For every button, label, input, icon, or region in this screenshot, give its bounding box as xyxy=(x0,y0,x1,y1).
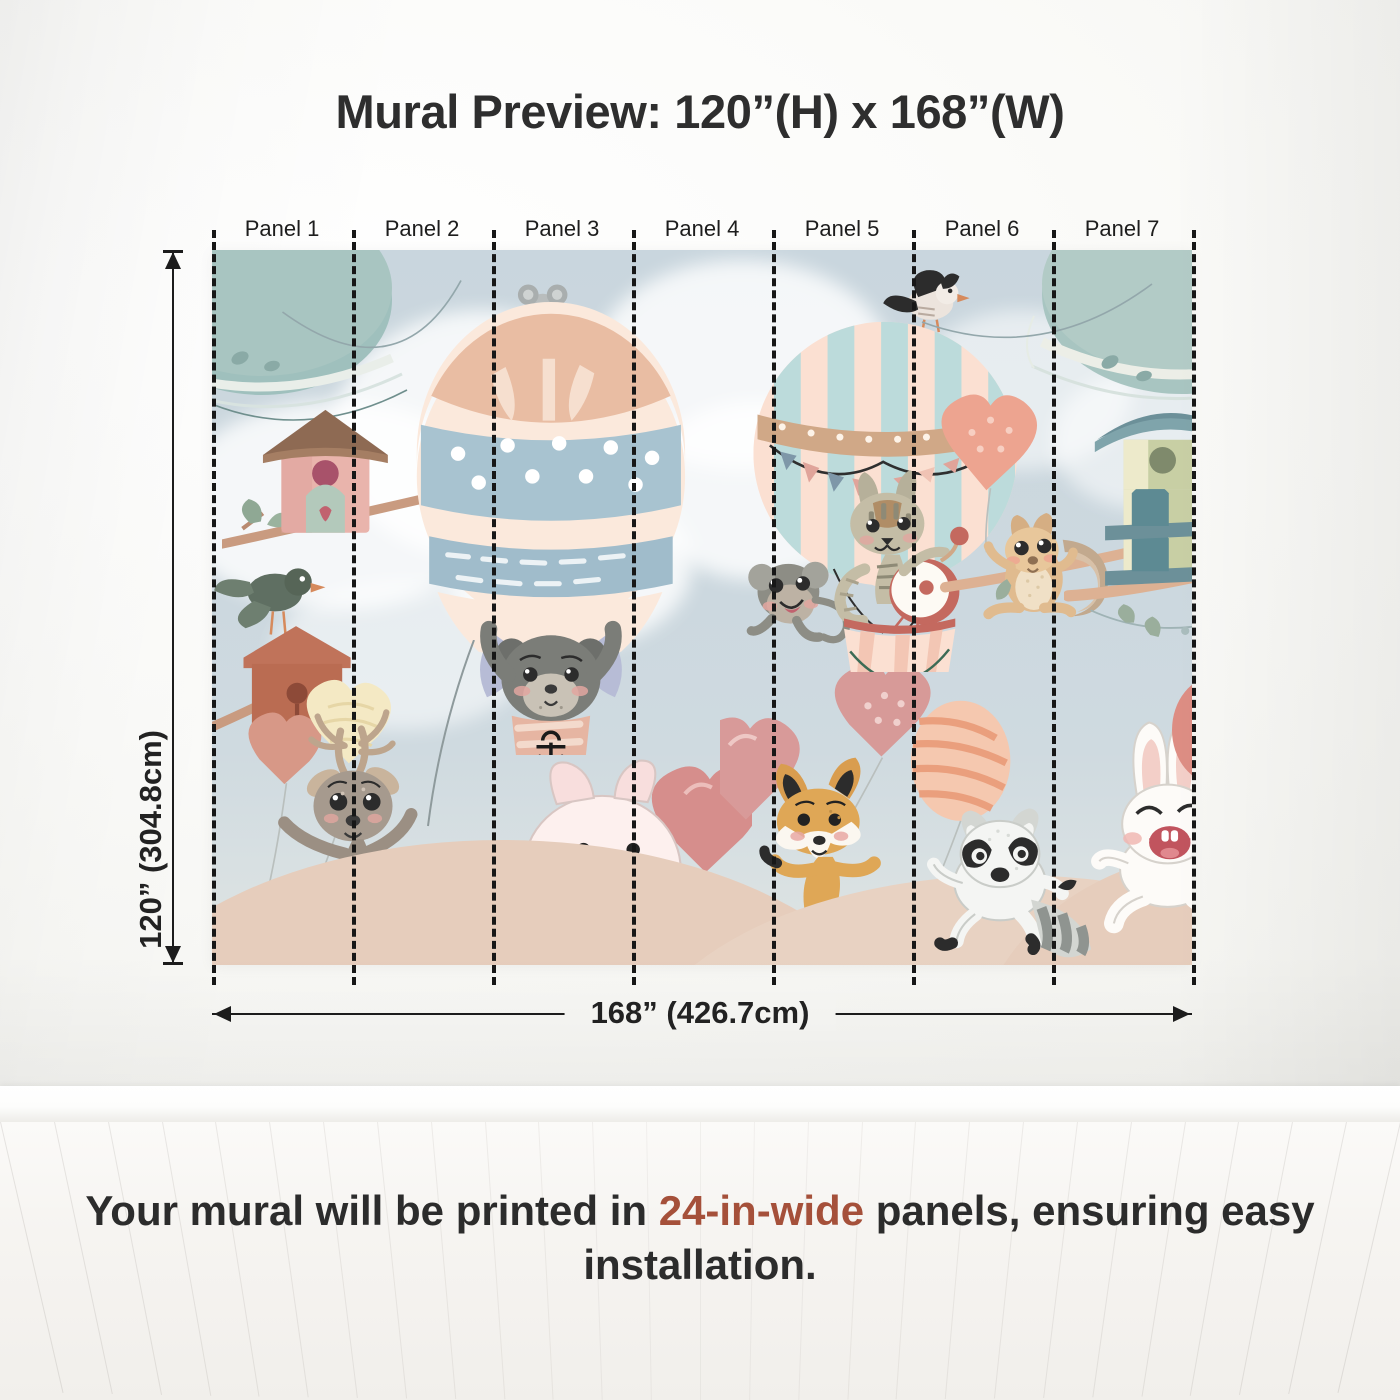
footer-caption: Your mural will be printed in 24-in-wide… xyxy=(0,1184,1400,1292)
height-dimension-label: 120” (304.8cm) xyxy=(133,730,169,949)
mural-preview-container[interactable]: Panel 1 Panel 2 Panel 3 Panel 4 Panel 5 … xyxy=(212,250,1192,965)
height-dimension-line xyxy=(172,250,174,965)
page-title: Mural Preview: 120”(H) x 168”(W) xyxy=(0,84,1400,139)
panel-label-4: Panel 4 xyxy=(632,216,772,242)
panel-label-1: Panel 1 xyxy=(212,216,352,242)
panel-label-2: Panel 2 xyxy=(352,216,492,242)
panel-guide-3 xyxy=(632,230,636,985)
mural-artwork xyxy=(212,250,1192,965)
arrow-left-icon xyxy=(214,1006,231,1022)
room-scene: Panel 1 Panel 2 Panel 3 Panel 4 Panel 5 … xyxy=(0,0,1400,1400)
balloon-string-right-icon xyxy=(902,270,1162,470)
panel-guide-6 xyxy=(1052,230,1056,985)
caption-pre: Your mural will be printed in xyxy=(85,1187,658,1234)
panel-label-7: Panel 7 xyxy=(1052,216,1192,242)
panel-guide-1 xyxy=(352,230,356,985)
width-dimension-label: 168” (426.7cm) xyxy=(565,995,836,1031)
arrow-right-icon xyxy=(1173,1006,1190,1022)
balloon-partial-right-icon xyxy=(1152,670,1192,830)
panel-guide-4 xyxy=(772,230,776,985)
panel-guide-7 xyxy=(1192,230,1196,985)
panel-guide-0 xyxy=(212,230,216,985)
panel-label-3: Panel 3 xyxy=(492,216,632,242)
panel-guide-5 xyxy=(912,230,916,985)
arrow-up-icon xyxy=(165,252,181,269)
panel-label-5: Panel 5 xyxy=(772,216,912,242)
baseboard xyxy=(0,1086,1400,1124)
balloon-rope-icon xyxy=(410,640,490,830)
caption-accent: 24-in-wide xyxy=(659,1187,864,1234)
panel-guide-2 xyxy=(492,230,496,985)
panel-label-6: Panel 6 xyxy=(912,216,1052,242)
